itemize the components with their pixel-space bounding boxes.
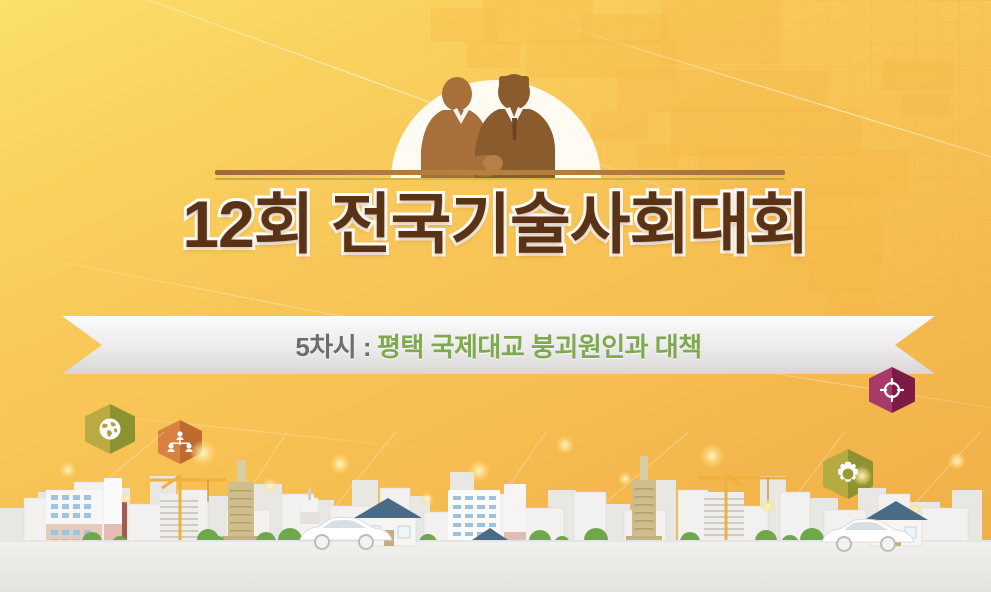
target-icon [880,378,904,402]
divider [215,170,785,180]
subtitle-main: 평택 국제대교 붕괴원인과 대책 [377,327,702,364]
globe-icon [96,415,124,443]
subtitle-prefix: 5차시 : [295,327,371,364]
handshake-icon [381,62,611,180]
cityscape-illustration [0,432,991,592]
presentation-slide: 12회 전국기술사회대회 5차시 : 평택 국제대교 붕괴원인과 대책 [0,0,991,592]
page-title: 12회 전국기술사회대회 [0,190,991,259]
people-network-icon [167,430,193,454]
subtitle: 5차시 : 평택 국제대교 붕괴원인과 대책 [62,316,935,374]
gear-icon [834,460,862,488]
handshake-emblem [381,62,611,180]
divider-rule-bottom [215,178,785,180]
divider-rule-top [215,170,785,175]
foreground-objects [0,494,991,564]
badge-target [869,367,915,413]
